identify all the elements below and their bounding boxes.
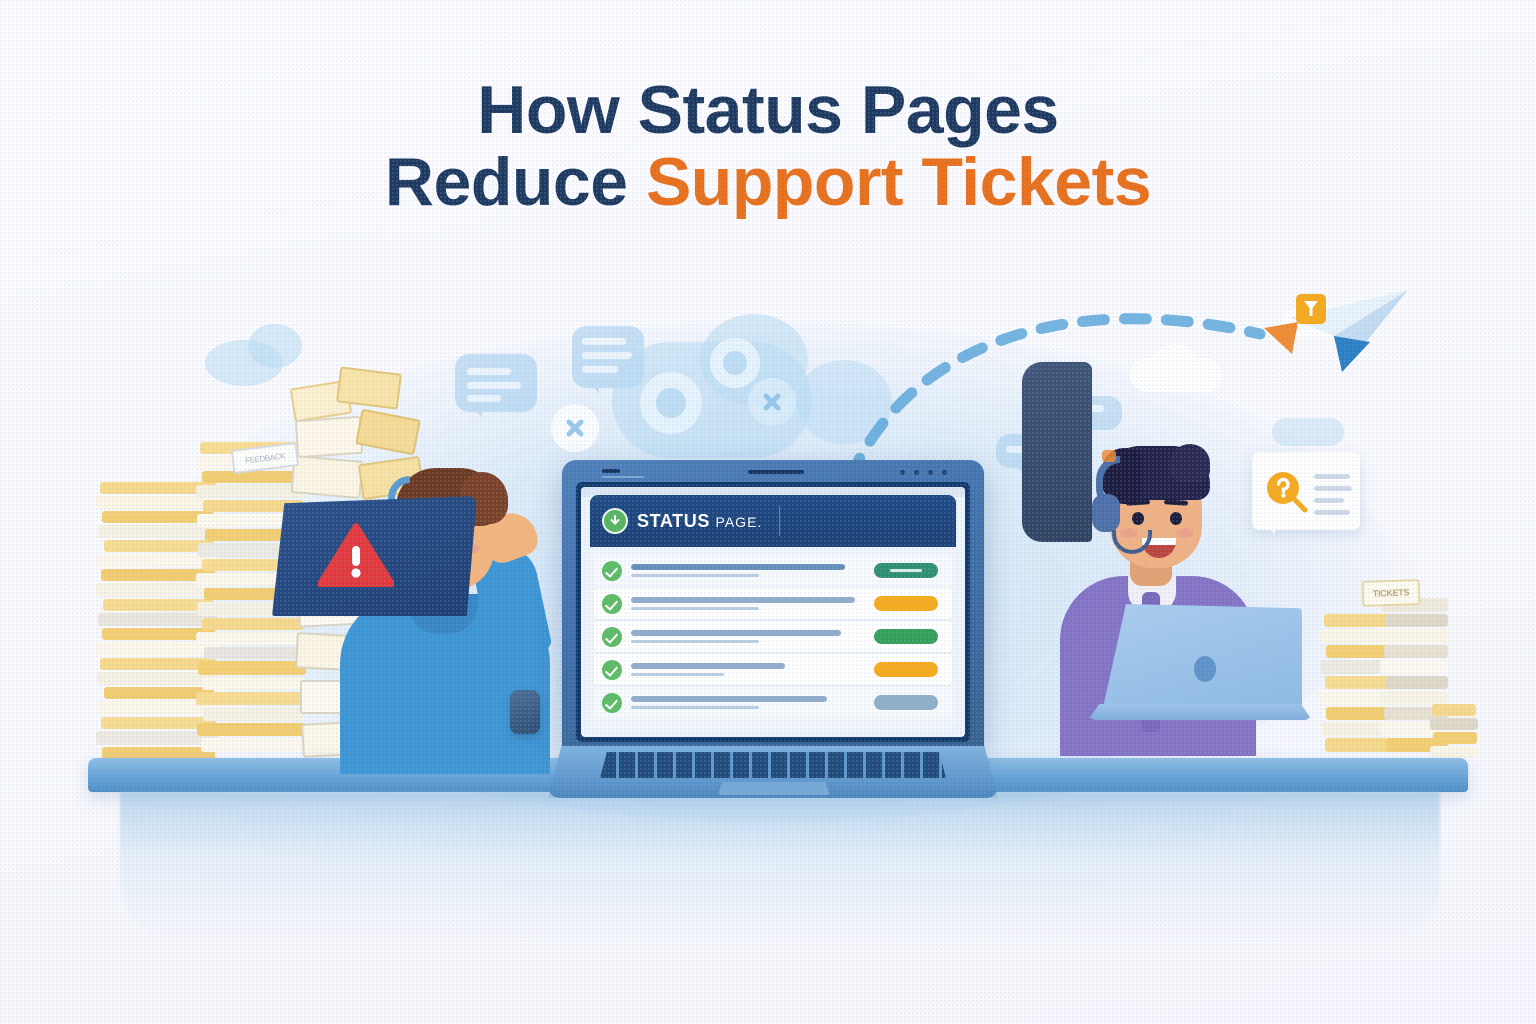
check-circle-icon bbox=[602, 660, 622, 680]
x-circle-icon bbox=[748, 378, 796, 426]
mouse-device bbox=[510, 690, 540, 734]
warning-triangle-icon bbox=[318, 522, 394, 588]
brand-strong: STATUS bbox=[637, 511, 710, 531]
faq-text-line bbox=[1314, 498, 1344, 503]
chat-bubble-icon bbox=[455, 354, 537, 412]
paper-stack-small bbox=[1320, 592, 1470, 772]
paper-plane-icon bbox=[1282, 284, 1412, 374]
service-name bbox=[631, 663, 864, 676]
laptop-trackpad[interactable] bbox=[718, 782, 830, 795]
service-name bbox=[631, 597, 864, 610]
faq-card bbox=[1252, 452, 1360, 530]
right-laptop bbox=[1082, 604, 1317, 724]
status-badge bbox=[874, 662, 938, 677]
scene: FEEDBACK bbox=[0, 262, 1536, 1024]
status-row[interactable] bbox=[594, 588, 952, 619]
service-name bbox=[631, 564, 864, 577]
service-name bbox=[631, 630, 864, 643]
status-badge bbox=[874, 695, 938, 710]
status-badge bbox=[874, 563, 938, 578]
check-circle-icon bbox=[602, 594, 622, 614]
laptop-logo bbox=[1194, 656, 1216, 682]
gear-icon bbox=[640, 372, 702, 434]
download-circle-icon bbox=[602, 508, 628, 534]
faq-text-line bbox=[1314, 486, 1352, 491]
status-row[interactable] bbox=[594, 654, 952, 685]
status-page-rows bbox=[590, 549, 956, 729]
brand-dot: . bbox=[757, 514, 762, 530]
left-laptop bbox=[272, 496, 477, 616]
status-page-brand: STATUS PAGE. bbox=[637, 511, 762, 532]
header-divider bbox=[779, 506, 780, 536]
status-badge bbox=[874, 596, 938, 611]
status-row[interactable] bbox=[594, 555, 952, 586]
question-magnifier-icon bbox=[1262, 468, 1310, 516]
laptop-lid: STATUS PAGE. bbox=[562, 460, 984, 752]
status-row[interactable] bbox=[594, 621, 952, 652]
status-badge bbox=[874, 629, 938, 644]
check-circle-icon bbox=[602, 693, 622, 713]
ticket-stack-label: TICKETS bbox=[1362, 579, 1421, 607]
laptop-keyboard[interactable] bbox=[600, 752, 946, 778]
title-line-1: How Status Pages bbox=[0, 74, 1536, 146]
title-line-2: Reduce Support Tickets bbox=[0, 146, 1536, 218]
illustration-canvas: How Status Pages Reduce Support Tickets bbox=[0, 0, 1536, 1024]
check-circle-icon bbox=[602, 561, 622, 581]
service-name bbox=[631, 696, 864, 709]
faq-text-line bbox=[1314, 510, 1350, 515]
laptop-screen: STATUS PAGE. bbox=[581, 487, 965, 737]
brand-light: PAGE bbox=[716, 514, 758, 530]
laptop-camera-row bbox=[562, 465, 984, 481]
center-laptop: STATUS PAGE. bbox=[548, 460, 998, 820]
laptop-bezel: STATUS PAGE. bbox=[576, 482, 970, 742]
status-page-header: STATUS PAGE. bbox=[590, 495, 956, 547]
faq-text-line bbox=[1314, 474, 1350, 479]
check-circle-icon bbox=[602, 627, 622, 647]
gear-icon bbox=[710, 338, 760, 388]
title-line-2-plain: Reduce bbox=[385, 144, 646, 220]
title-line-2-accent: Support Tickets bbox=[646, 144, 1151, 220]
page-title: How Status Pages Reduce Support Tickets bbox=[0, 74, 1536, 218]
status-row[interactable] bbox=[594, 687, 952, 718]
